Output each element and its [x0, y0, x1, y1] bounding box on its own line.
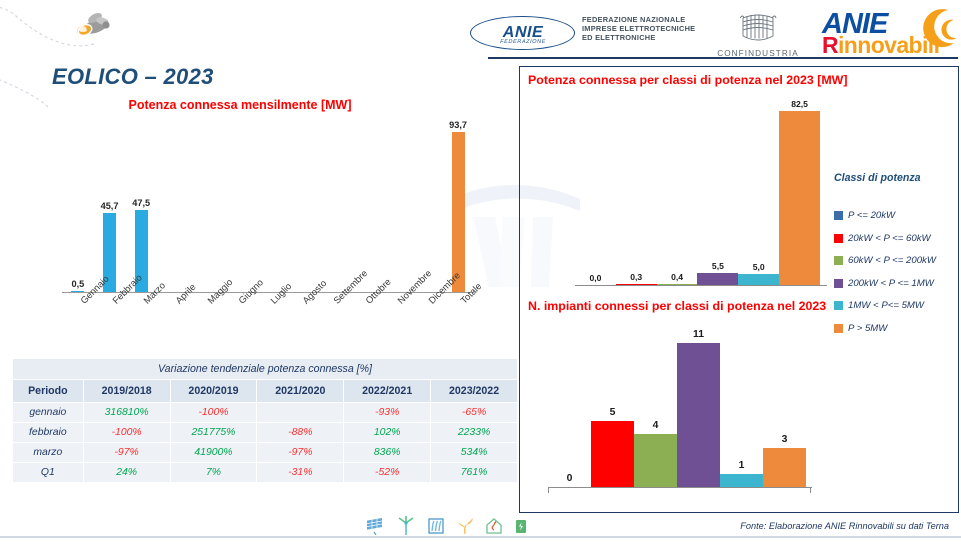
plants-count-bar-group: 0541113: [548, 329, 806, 487]
legend-label: 60kW < P <= 200kW: [848, 255, 936, 266]
legend-label: 20kW < P <= 60kW: [848, 233, 931, 244]
slide-root: ANIE FEDERAZIONE FEDERAZIONE NAZIONALE I…: [0, 0, 961, 544]
battery-icon: [514, 517, 528, 535]
rinnovabili-r: R: [822, 32, 838, 58]
legend-swatch-icon: [834, 211, 843, 220]
legend-item[interactable]: P <= 20kW: [834, 210, 954, 221]
potenza-per-classi-bar[interactable]: [697, 273, 738, 285]
potenza-per-classi-bar-value: 5,5: [712, 261, 724, 271]
legend-item[interactable]: P > 5MW: [834, 323, 954, 334]
bee-icon: [73, 11, 113, 43]
n-impianti-per-classi-bar-slot[interactable]: 5: [591, 329, 634, 487]
plants-axis-tick-left: [548, 487, 549, 493]
table-value-cell: 251775%: [170, 423, 257, 443]
source-note: Fonte: Elaborazione ANIE Rinnovabili su …: [740, 521, 949, 531]
table-row: Q124%7%-31%-52%761%: [13, 463, 518, 483]
monthly-bar-slot[interactable]: [411, 120, 443, 292]
table-caption: Variazione tendenziale potenza connessa …: [13, 359, 518, 380]
monthly-axis-labels: GennaioFebbraioMarzoAprileMaggioGiugnoLu…: [62, 296, 474, 352]
monthly-bar-slot[interactable]: 93,7: [442, 120, 474, 292]
footer-divider: [0, 536, 961, 538]
monthly-label-slot: Dicembre: [411, 296, 443, 352]
anie-federazione-sub: FEDERAZIONE: [499, 39, 546, 45]
n-impianti-per-classi-bar-slot[interactable]: 4: [634, 329, 677, 487]
monthly-label-slot: Totale: [442, 296, 474, 352]
monthly-bar-slot[interactable]: [252, 120, 284, 292]
potenza-per-classi-bar-slot[interactable]: 0,4: [657, 95, 698, 285]
n-impianti-per-classi-bar-value: 5: [610, 407, 616, 418]
monthly-label-slot: Febbraio: [94, 296, 126, 352]
table-value-cell: 7%: [170, 463, 257, 483]
legend-swatch-icon: [834, 279, 843, 288]
monthly-bar-slot[interactable]: [220, 120, 252, 292]
anie-federazione-logo: ANIE FEDERAZIONE: [470, 16, 575, 50]
plants-count-chart-title: N. impianti connessi per classi di poten…: [528, 299, 826, 313]
table-column-header: 2023/2022: [431, 380, 518, 403]
table-value-cell: 316810%: [83, 403, 170, 423]
n-impianti-per-classi-bar[interactable]: [677, 343, 720, 487]
table-value-cell: -100%: [170, 403, 257, 423]
monthly-bar-slot[interactable]: 47,5: [125, 120, 157, 292]
table-row: marzo-97%41900%-97%836%534%: [13, 443, 518, 463]
monthly-bar-value: 45,7: [101, 201, 119, 211]
potenza-per-classi-bar-value: 5,0: [753, 262, 765, 272]
potenza-per-classi-bar-value: 0,0: [589, 273, 601, 283]
n-impianti-per-classi-bar[interactable]: [763, 448, 806, 488]
table-value-cell: 836%: [344, 443, 431, 463]
plants-count-chart-plot: 0541113: [548, 329, 806, 487]
legend-swatch-icon: [834, 234, 843, 243]
table-value-cell: 24%: [83, 463, 170, 483]
n-impianti-per-classi-bar-value: 3: [782, 434, 788, 445]
legend-label: P <= 20kW: [848, 210, 895, 221]
federazione-description: FEDERAZIONE NAZIONALE IMPRESE ELETTROTEC…: [582, 16, 695, 42]
n-impianti-per-classi-bar[interactable]: [591, 421, 634, 487]
table-value-cell: -93%: [344, 403, 431, 423]
power-class-chart-title: Potenza connessa per classi di potenza n…: [528, 73, 848, 87]
geothermal-house-icon: [485, 517, 503, 535]
biomass-icon: [456, 517, 474, 535]
n-impianti-per-classi-bar[interactable]: [634, 434, 677, 487]
table-value-cell: 761%: [431, 463, 518, 483]
monthly-bar-group: 0,545,747,593,7: [62, 120, 474, 292]
solar-panel-icon: [365, 517, 385, 535]
table-value-cell: 534%: [431, 443, 518, 463]
table-column-header: 2019/2018: [83, 380, 170, 403]
table-row: gennaio316810%-100%-93%-65%: [13, 403, 518, 423]
legend-item[interactable]: 200kW < P <= 1MW: [834, 278, 954, 289]
monthly-label-slot: Settembre: [316, 296, 348, 352]
potenza-per-classi-bar-slot[interactable]: 0,0: [575, 95, 616, 285]
legend-title: Classi di potenza: [834, 172, 954, 184]
plants-count-chart-axis: [548, 487, 812, 488]
table-value-cell: 41900%: [170, 443, 257, 463]
table-row: febbraio-100%251775%-88%102%2233%: [13, 423, 518, 443]
monthly-label-slot: Agosto: [284, 296, 316, 352]
n-impianti-per-classi-bar-value: 11: [693, 329, 704, 340]
table-column-header: 2020/2019: [170, 380, 257, 403]
potenza-per-classi-bar-slot[interactable]: 82,5: [779, 95, 820, 285]
monthly-label-slot: Giugno: [220, 296, 252, 352]
footer-icon-row: [365, 516, 528, 536]
sun-swoosh-icon: [918, 7, 961, 51]
monthly-bar-slot[interactable]: [189, 120, 221, 292]
n-impianti-per-classi-bar-value: 0: [567, 473, 573, 484]
table-column-header: 2021/2020: [257, 380, 344, 403]
table-value-cell: -97%: [257, 443, 344, 463]
monthly-bar-slot[interactable]: [347, 120, 379, 292]
legend-swatch-icon: [834, 256, 843, 265]
table-value-cell: [257, 403, 344, 423]
legend-swatch-icon: [834, 324, 843, 333]
table-value-cell: 2233%: [431, 423, 518, 443]
monthly-label-slot: Marzo: [125, 296, 157, 352]
wind-turbine-icon: [396, 516, 416, 536]
table-column-header: 2022/2021: [344, 380, 431, 403]
monthly-power-chart: Potenza connessa mensilmente [MW] 0,545,…: [20, 98, 512, 338]
table-value-cell: 102%: [344, 423, 431, 443]
legend-label: P > 5MW: [848, 323, 887, 334]
table-value-cell: -100%: [83, 423, 170, 443]
monthly-label-slot: Aprile: [157, 296, 189, 352]
monthly-bar-slot[interactable]: [379, 120, 411, 292]
n-impianti-per-classi-bar-slot[interactable]: 0: [548, 329, 591, 487]
table-value-cell: -88%: [257, 423, 344, 443]
table-column-header: Periodo: [13, 380, 84, 403]
fed-line-3: ED ELETTRONICHE: [582, 34, 695, 43]
table-period-cell: gennaio: [13, 403, 84, 423]
right-charts-panel: Potenza connessa per classi di potenza n…: [519, 66, 959, 513]
header-logos: ANIE FEDERAZIONE FEDERAZIONE NAZIONALE I…: [470, 6, 958, 58]
potenza-per-classi-bar-value: 82,5: [791, 99, 808, 109]
legend-label: 200kW < P <= 1MW: [848, 278, 934, 289]
monthly-bar-slot[interactable]: 0,5: [62, 120, 94, 292]
variation-table: Variazione tendenziale potenza connessa …: [12, 358, 518, 483]
legend-label: 1MW < P<= 5MW: [848, 300, 924, 311]
potenza-per-classi-bar-value: 0,3: [630, 272, 642, 282]
table-value-cell: -52%: [344, 463, 431, 483]
monthly-bar-slot[interactable]: 45,7: [94, 120, 126, 292]
potenza-per-classi-bar[interactable]: [779, 111, 820, 285]
monthly-chart-plot: 0,545,747,593,7: [62, 120, 474, 292]
table-value-cell: -31%: [257, 463, 344, 483]
potenza-per-classi-bar-slot[interactable]: 0,3: [616, 95, 657, 285]
monthly-label-slot: Maggio: [189, 296, 221, 352]
table-header-row: Periodo2019/20182020/20192021/20202022/2…: [13, 380, 518, 403]
power-class-legend: Classi di potenza P <= 20kW20kW < P <= 6…: [834, 172, 954, 345]
hydro-icon: [427, 517, 445, 535]
potenza-per-classi-bar-slot[interactable]: 5,0: [738, 95, 779, 285]
potenza-per-classi-bar-slot[interactable]: 5,5: [697, 95, 738, 285]
monthly-label-slot: Ottobre: [347, 296, 379, 352]
confindustria-mark-icon: [737, 12, 779, 42]
legend-item[interactable]: 20kW < P <= 60kW: [834, 233, 954, 244]
n-impianti-per-classi-bar-value: 1: [739, 460, 745, 471]
table-value-cell: -97%: [83, 443, 170, 463]
n-impianti-per-classi-bar[interactable]: [720, 474, 763, 487]
page-title: EOLICO – 2023: [52, 64, 214, 90]
table-period-cell: marzo: [13, 443, 84, 463]
table-period-cell: Q1: [13, 463, 84, 483]
monthly-bar-slot[interactable]: [316, 120, 348, 292]
monthly-bar[interactable]: [452, 132, 465, 292]
monthly-label-slot: Novembre: [379, 296, 411, 352]
legend-items: P <= 20kW20kW < P <= 60kW60kW < P <= 200…: [834, 210, 954, 334]
power-class-chart-axis: [575, 285, 827, 286]
power-class-bar-group: 0,00,30,45,55,082,5: [575, 95, 820, 285]
legend-item[interactable]: 1MW < P<= 5MW: [834, 300, 954, 311]
potenza-per-classi-bar[interactable]: [738, 274, 779, 285]
monthly-bar-slot[interactable]: [157, 120, 189, 292]
monthly-bar-value: 93,7: [449, 120, 467, 130]
n-impianti-per-classi-bar-value: 4: [653, 420, 659, 431]
monthly-label-slot: Gennaio: [62, 296, 94, 352]
anie-rinnovabili-logo: ANIE Rinnovabili: [822, 8, 958, 56]
plants-axis-tick-right: [810, 487, 811, 493]
monthly-label-slot: Luglio: [252, 296, 284, 352]
monthly-bar-slot[interactable]: [284, 120, 316, 292]
potenza-per-classi-bar-value: 0,4: [671, 272, 683, 282]
table-value-cell: -65%: [431, 403, 518, 423]
monthly-chart-title: Potenza connessa mensilmente [MW]: [20, 98, 460, 112]
power-class-chart-plot: 0,00,30,45,55,082,5: [575, 95, 820, 285]
n-impianti-per-classi-bar-slot[interactable]: 1: [720, 329, 763, 487]
legend-swatch-icon: [834, 301, 843, 310]
table-period-cell: febbraio: [13, 423, 84, 443]
monthly-bar-value: 47,5: [132, 198, 150, 208]
header-divider: [488, 57, 958, 59]
n-impianti-per-classi-bar-slot[interactable]: 3: [763, 329, 806, 487]
legend-item[interactable]: 60kW < P <= 200kW: [834, 255, 954, 266]
confindustria-logo: CONFINDUSTRIA: [710, 12, 806, 58]
monthly-bar-value: 0,5: [71, 279, 84, 289]
n-impianti-per-classi-bar-slot[interactable]: 11: [677, 329, 720, 487]
